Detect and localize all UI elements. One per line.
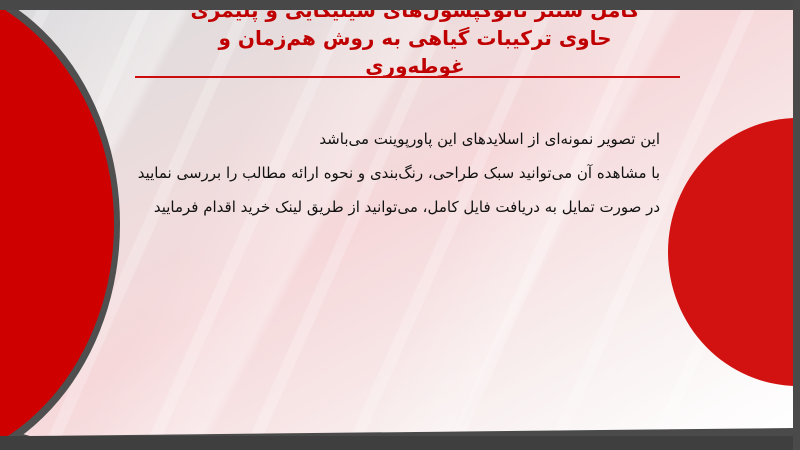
frame-top-band (0, 0, 800, 10)
presentation-slide: کامل سنتز نانوکپسول‌های سیلیکایی و پلیمر… (0, 0, 800, 450)
horizontal-red-rule (135, 76, 680, 78)
frame-bottom-band (0, 436, 800, 450)
slide-title-line-2: حاوی ترکیبات گیاهی به روش هم‌زمان و (120, 24, 710, 52)
red-left-edge-strip (0, 0, 6, 450)
slide-title: کامل سنتز نانوکپسول‌های سیلیکایی و پلیمر… (120, 0, 710, 80)
frame-right-band (793, 0, 800, 450)
slide-body-line-2: با مشاهده آن می‌توانید سبک طراحی، رنگ‌بن… (120, 156, 660, 190)
slide-body-line-3: در صورت تمایل به دریافت فایل کامل، می‌تو… (120, 190, 660, 224)
slide-body-text: این تصویر نمونه‌ای از اسلایدهای این پاور… (120, 122, 660, 224)
slide-body-line-1: این تصویر نمونه‌ای از اسلایدهای این پاور… (120, 122, 660, 156)
